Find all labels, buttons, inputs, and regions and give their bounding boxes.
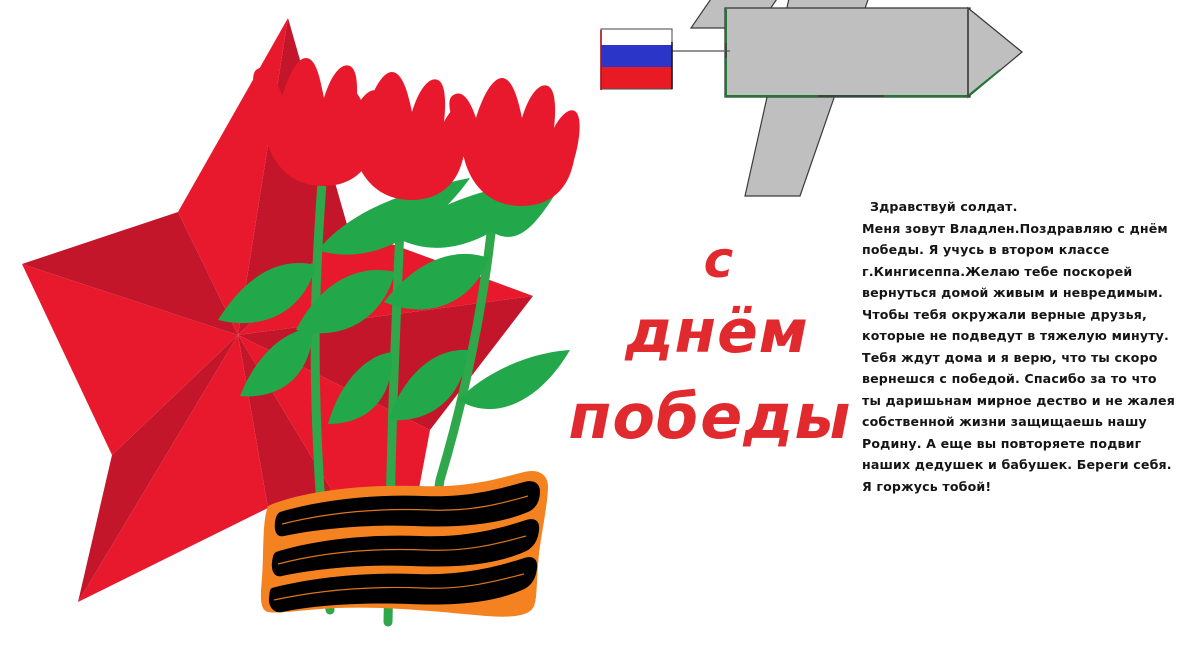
letter-line: Тебя ждут дома и я верю, что ты скоро (862, 347, 1182, 369)
letter-line: Родину. А еще вы повторяете подвиг (862, 433, 1182, 455)
flag-stripe-red (601, 67, 672, 89)
letter-line: Меня зовут Владлен.Поздравляю с днём (862, 218, 1182, 240)
letter-line: Чтобы тебя окружали верные друзья, (862, 304, 1182, 326)
letter-line: Я горжусь тобой! (862, 476, 1182, 498)
letter-line: наших дедушек и бабушек. Береги себя. (862, 454, 1182, 476)
letter-line: Здравствуй солдат. (862, 196, 1182, 218)
flag-stripe-blue (601, 45, 672, 67)
letter-line: вернешся с победой. Спасибо за то что (862, 368, 1182, 390)
grey-vehicle-shape (691, 0, 1022, 196)
vehicle-body (725, 8, 970, 97)
victory-day-card: с днём победы Здравствуй солдат. Меня зо… (0, 0, 1200, 647)
vehicle-nose (968, 8, 1022, 97)
tulip-right (449, 78, 579, 206)
letter-line: которые не подведут в тяжелую минуту. (862, 325, 1182, 347)
letter-line: победы. Я учусь в втором классе (862, 239, 1182, 261)
tulip-center (338, 72, 470, 200)
letter-line: ты даришьнам мирное дество и не жалея (862, 390, 1182, 412)
letter-text-block: Здравствуй солдат. Меня зовут Владлен.По… (862, 196, 1182, 497)
letter-line: вернуться домой живым и невредимым. (862, 282, 1182, 304)
flag-stripe-white (601, 29, 672, 45)
letter-line: г.Кингисеппа.Желаю тебе поскорей (862, 261, 1182, 283)
flag-to-vehicle-connector (672, 43, 730, 58)
russian-flag (601, 29, 672, 90)
letter-line: собственной жизни защищаешь нашу (862, 411, 1182, 433)
